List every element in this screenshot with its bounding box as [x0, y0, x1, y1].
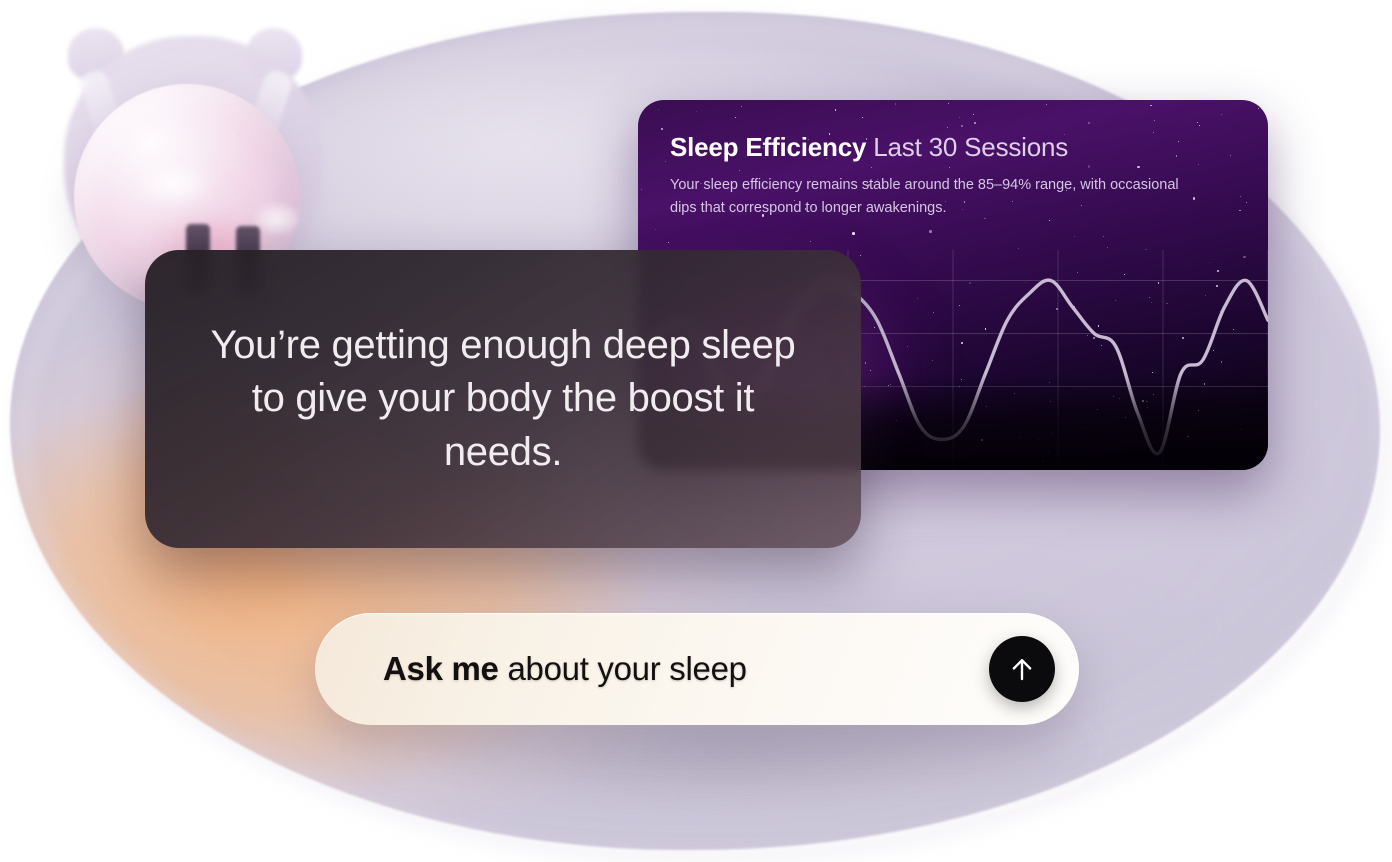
- ask-input-prompt[interactable]: Ask me about your sleep: [383, 650, 989, 688]
- card-header: Sleep Efficiency Last 30 Sessions Your s…: [670, 132, 1240, 219]
- ask-input-prompt-light: about your sleep: [507, 650, 746, 687]
- assistant-message-bubble: You’re getting enough deep sleep to give…: [145, 250, 861, 548]
- assistant-message-text: You’re getting enough deep sleep to give…: [145, 319, 861, 480]
- avatar-highlight: [132, 162, 236, 224]
- card-title: Sleep Efficiency Last 30 Sessions: [670, 132, 1240, 163]
- card-title-light: Last 30 Sessions: [873, 132, 1068, 162]
- arrow-up-icon: [1007, 654, 1037, 684]
- ask-input-prompt-strong: Ask me: [383, 650, 499, 687]
- card-title-strong: Sleep Efficiency: [670, 132, 866, 162]
- app-stage: Sleep Efficiency Last 30 Sessions Your s…: [0, 0, 1392, 857]
- send-button[interactable]: [989, 636, 1055, 702]
- avatar-highlight-secondary: [256, 204, 298, 234]
- card-subtitle: Your sleep efficiency remains stable aro…: [670, 174, 1190, 220]
- ask-input-bar[interactable]: Ask me about your sleep: [315, 613, 1079, 725]
